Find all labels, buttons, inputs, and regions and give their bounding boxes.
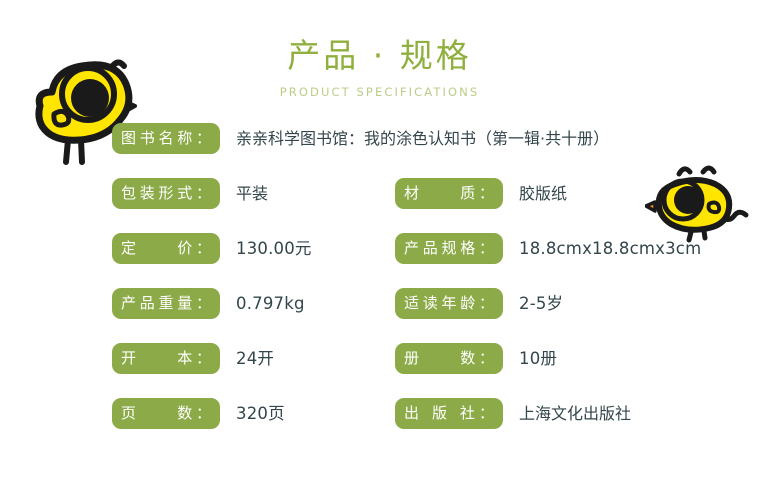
spec-row: 产品重量：0.797kg适读年龄：2-5岁 — [0, 286, 759, 341]
spec-row: 定 价：130.00元产品规格：18.8cmx18.8cmx3cm — [0, 231, 759, 286]
spec-item: 出 版 社：上海文化出版社 — [395, 396, 631, 430]
spec-label-pill: 出 版 社： — [395, 398, 503, 429]
spec-label-pill: 定 价： — [112, 233, 220, 264]
spec-label-pill: 材 质： — [395, 178, 503, 209]
specification-list: 图书名称：亲亲科学图书馆：我的涂色认知书（第一辑·共十册）包装形式：平装材 质：… — [0, 121, 759, 451]
spec-label-pill: 页 数： — [112, 398, 220, 429]
spec-value: 18.8cmx18.8cmx3cm — [519, 233, 701, 264]
spec-value: 亲亲科学图书馆：我的涂色认知书（第一辑·共十册） — [236, 123, 609, 154]
spec-label-pill: 包装形式： — [112, 178, 220, 209]
spec-label-pill: 册 数： — [395, 343, 503, 374]
spec-item: 适读年龄：2-5岁 — [395, 286, 563, 320]
spec-label-text: 页 数： — [121, 398, 211, 429]
spec-label-pill: 图书名称： — [112, 123, 220, 154]
spec-item: 材 质：胶版纸 — [395, 176, 567, 210]
spec-item: 包装形式：平装 — [112, 176, 268, 210]
spec-label-text: 出 版 社： — [404, 398, 494, 429]
spec-row: 包装形式：平装材 质：胶版纸 — [0, 176, 759, 231]
spec-label-text: 材 质： — [404, 178, 494, 209]
spec-label-text: 产品重量： — [121, 288, 211, 319]
spec-row: 开 本：24开册 数：10册 — [0, 341, 759, 396]
spec-label-text: 开 本： — [121, 343, 211, 374]
spec-item: 图书名称：亲亲科学图书馆：我的涂色认知书（第一辑·共十册） — [112, 121, 609, 155]
spec-label-text: 包装形式： — [121, 178, 211, 209]
spec-value: 上海文化出版社 — [519, 398, 631, 429]
spec-label-pill: 产品重量： — [112, 288, 220, 319]
spec-label-text: 册 数： — [404, 343, 494, 374]
spec-value: 130.00元 — [236, 233, 312, 264]
spec-label-text: 产品规格： — [404, 233, 494, 264]
spec-item: 产品重量：0.797kg — [112, 286, 305, 320]
spec-item: 产品规格：18.8cmx18.8cmx3cm — [395, 231, 701, 265]
spec-label-pill: 产品规格： — [395, 233, 503, 264]
page-header: 产品 · 规格 PRODUCT SPECIFICATIONS — [0, 36, 759, 100]
spec-item: 定 价：130.00元 — [112, 231, 312, 265]
spec-value: 0.797kg — [236, 288, 305, 319]
spec-item: 页 数：320页 — [112, 396, 285, 430]
spec-label-pill: 开 本： — [112, 343, 220, 374]
spec-item: 开 本：24开 — [112, 341, 274, 375]
page-subtitle: PRODUCT SPECIFICATIONS — [0, 84, 759, 100]
spec-label-text: 定 价： — [121, 233, 211, 264]
spec-label-pill: 适读年龄： — [395, 288, 503, 319]
spec-value: 24开 — [236, 343, 274, 374]
spec-value: 胶版纸 — [519, 178, 567, 209]
spec-value: 2-5岁 — [519, 288, 563, 319]
spec-label-text: 图书名称： — [121, 123, 211, 154]
spec-row: 页 数：320页出 版 社：上海文化出版社 — [0, 396, 759, 451]
spec-value: 10册 — [519, 343, 557, 374]
spec-row: 图书名称：亲亲科学图书馆：我的涂色认知书（第一辑·共十册） — [0, 121, 759, 176]
spec-label-text: 适读年龄： — [404, 288, 494, 319]
spec-value: 320页 — [236, 398, 285, 429]
spec-item: 册 数：10册 — [395, 341, 557, 375]
page-title: 产品 · 规格 — [0, 36, 759, 76]
spec-value: 平装 — [236, 178, 268, 209]
